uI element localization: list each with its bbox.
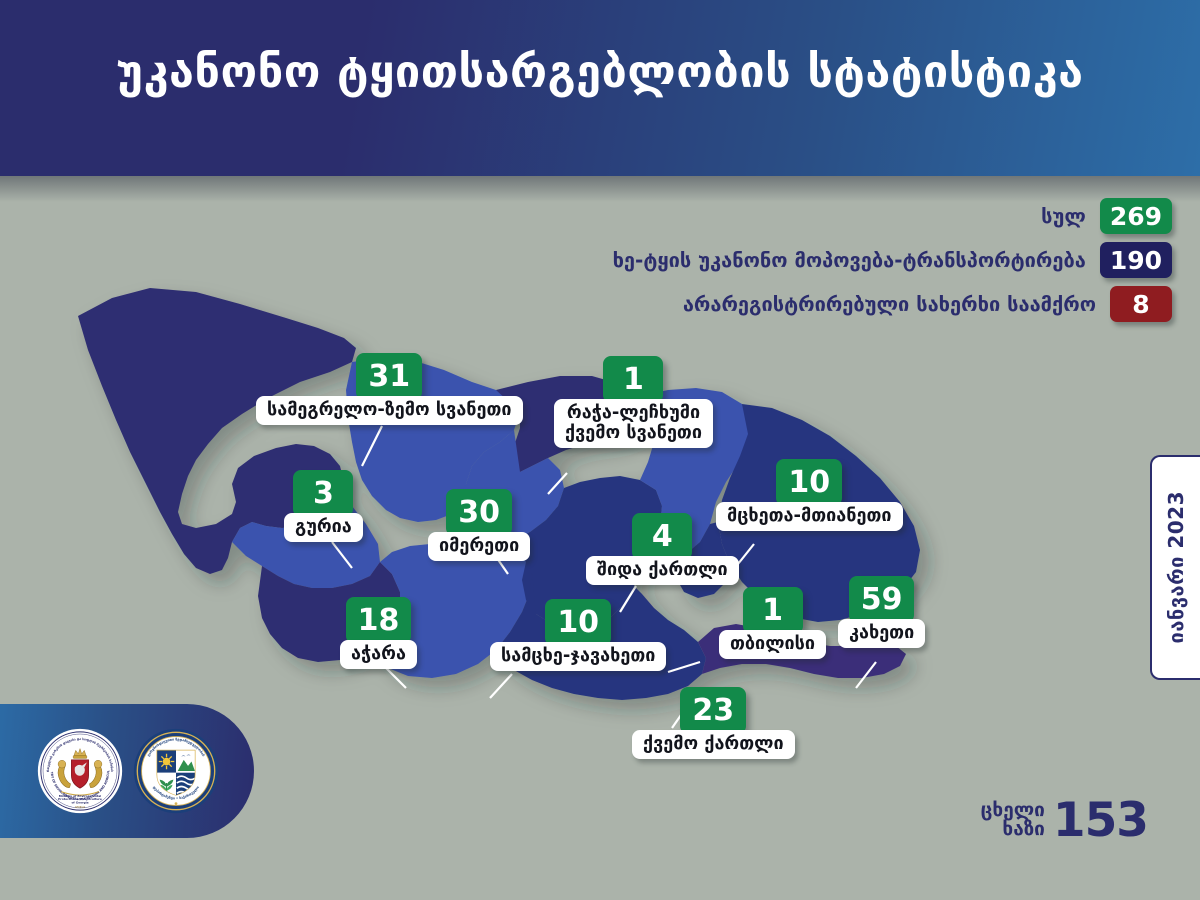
legend-row-illegal-logging-transport: ხე-ტყის უკანონო მოპოვება-ტრანსპორტირება … [613, 242, 1172, 278]
hotline-number: 153 [1053, 799, 1148, 842]
callout-count-shida-kartli: 4 [632, 513, 692, 560]
date-tab-label: იანვარი 2023 [1164, 491, 1188, 643]
callout-kvemo-kartli[interactable]: 23 ქვემო ქართლი [632, 687, 795, 759]
leader-kakheti [856, 662, 876, 688]
leader-samtskhe [490, 674, 512, 698]
callout-label-kakheti: კახეთი [838, 619, 925, 648]
callout-label-racha: რაჭა-ლეჩხუმი ქვემო სვანეთი [554, 399, 713, 448]
logo-bar: საქართველოს გარემოს დაცვისა და სოფლის მე… [0, 704, 254, 838]
svg-text:of Georgia: of Georgia [71, 801, 88, 805]
leader-tbilisi [668, 662, 700, 672]
leader-adjara [386, 668, 406, 688]
callout-label-mtskheta: მცხეთა-მთიანეთი [716, 502, 903, 531]
legend-badge-unregistered-sawmill: 8 [1110, 286, 1172, 322]
callout-kakheti[interactable]: 59 კახეთი [838, 576, 925, 648]
leader-samegrelo [362, 426, 382, 466]
legend-badge-illegal-logging-transport: 190 [1100, 242, 1172, 278]
callout-guria[interactable]: 3 გურია [284, 470, 363, 542]
callout-shida-kartli[interactable]: 4 შიდა ქართლი [586, 513, 739, 585]
callout-label-adjara: აჭარა [340, 640, 417, 669]
hotline-words: ცხელი ხაზი [981, 801, 1045, 840]
callout-label-tbilisi: თბილისი [719, 630, 826, 659]
callout-count-imereti: 30 [446, 489, 512, 536]
callout-tbilisi[interactable]: 1 თბილისი [719, 587, 826, 659]
date-tab: იანვარი 2023 [1150, 455, 1200, 680]
page-title: უკანონო ტყითსარგებლობის სტატისტიკა [0, 46, 1200, 98]
svg-text:GEORGIA: GEORGIA [75, 806, 86, 809]
callout-count-adjara: 18 [346, 597, 412, 644]
callout-racha[interactable]: 1 რაჭა-ლეჩხუმი ქვემო სვანეთი [554, 356, 713, 448]
callout-samegrelo[interactable]: 31 სამეგრელო-ზემო სვანეთი [256, 353, 523, 425]
callout-imereti[interactable]: 30 იმერეთი [428, 489, 530, 561]
leader-racha [548, 473, 567, 494]
legend-row-total: სულ 269 [1041, 198, 1172, 234]
callout-count-guria: 3 [293, 470, 353, 517]
callout-adjara[interactable]: 18 აჭარა [340, 597, 417, 669]
hotline: ცხელი ხაზი 153 [981, 799, 1148, 842]
legend-row-unregistered-sawmill: არარეგისტრირებული სახერხი საამქრო 8 [683, 286, 1172, 322]
callout-count-kvemo-kartli: 23 [680, 687, 746, 734]
callout-label-samegrelo: სამეგრელო-ზემო სვანეთი [256, 396, 523, 425]
legend: სულ 269 ხე-ტყის უკანონო მოპოვება-ტრანსპო… [613, 198, 1172, 322]
callout-count-mtskheta: 10 [776, 459, 842, 506]
infographic-root: უკანონო ტყითსარგებლობის სტატისტიკა [0, 0, 1200, 900]
callout-label-samtskhe: სამცხე-ჯავახეთი [490, 642, 666, 671]
callout-count-racha: 1 [603, 356, 663, 403]
callout-label-racha-line2: ქვემო სვანეთი [565, 422, 702, 443]
callout-label-guria: გურია [284, 513, 363, 542]
callout-count-samtskhe: 10 [545, 599, 611, 646]
callout-label-shida-kartli: შიდა ქართლი [586, 556, 739, 585]
legend-badge-total: 269 [1100, 198, 1172, 234]
legend-label-total: სულ [1041, 204, 1086, 228]
hotline-line2: ხაზი [981, 820, 1045, 839]
callout-label-kvemo-kartli: ქვემო ქართლი [632, 730, 795, 759]
callout-count-kakheti: 59 [849, 576, 915, 623]
callout-count-tbilisi: 1 [743, 587, 803, 634]
callout-samtskhe[interactable]: 10 სამცხე-ჯავახეთი [490, 599, 666, 671]
callout-count-samegrelo: 31 [356, 353, 422, 400]
callout-mtskheta[interactable]: 10 მცხეთა-მთიანეთი [716, 459, 903, 531]
leader-guria [332, 542, 352, 568]
supervision-department-emblem-icon: გარემოსდაცვითი ზედამხედველობის დეპარტამე… [133, 728, 219, 814]
ministry-emblem-icon: საქართველოს გარემოს დაცვისა და სოფლის მე… [37, 728, 123, 814]
legend-label-illegal-logging-transport: ხე-ტყის უკანონო მოპოვება-ტრანსპორტირება [613, 248, 1086, 272]
header-banner: უკანონო ტყითსარგებლობის სტატისტიკა [0, 0, 1200, 176]
callout-label-racha-line1: რაჭა-ლეჩხუმი [567, 402, 700, 423]
callout-label-imereti: იმერეთი [428, 532, 530, 561]
legend-label-unregistered-sawmill: არარეგისტრირებული სახერხი საამქრო [683, 292, 1096, 316]
